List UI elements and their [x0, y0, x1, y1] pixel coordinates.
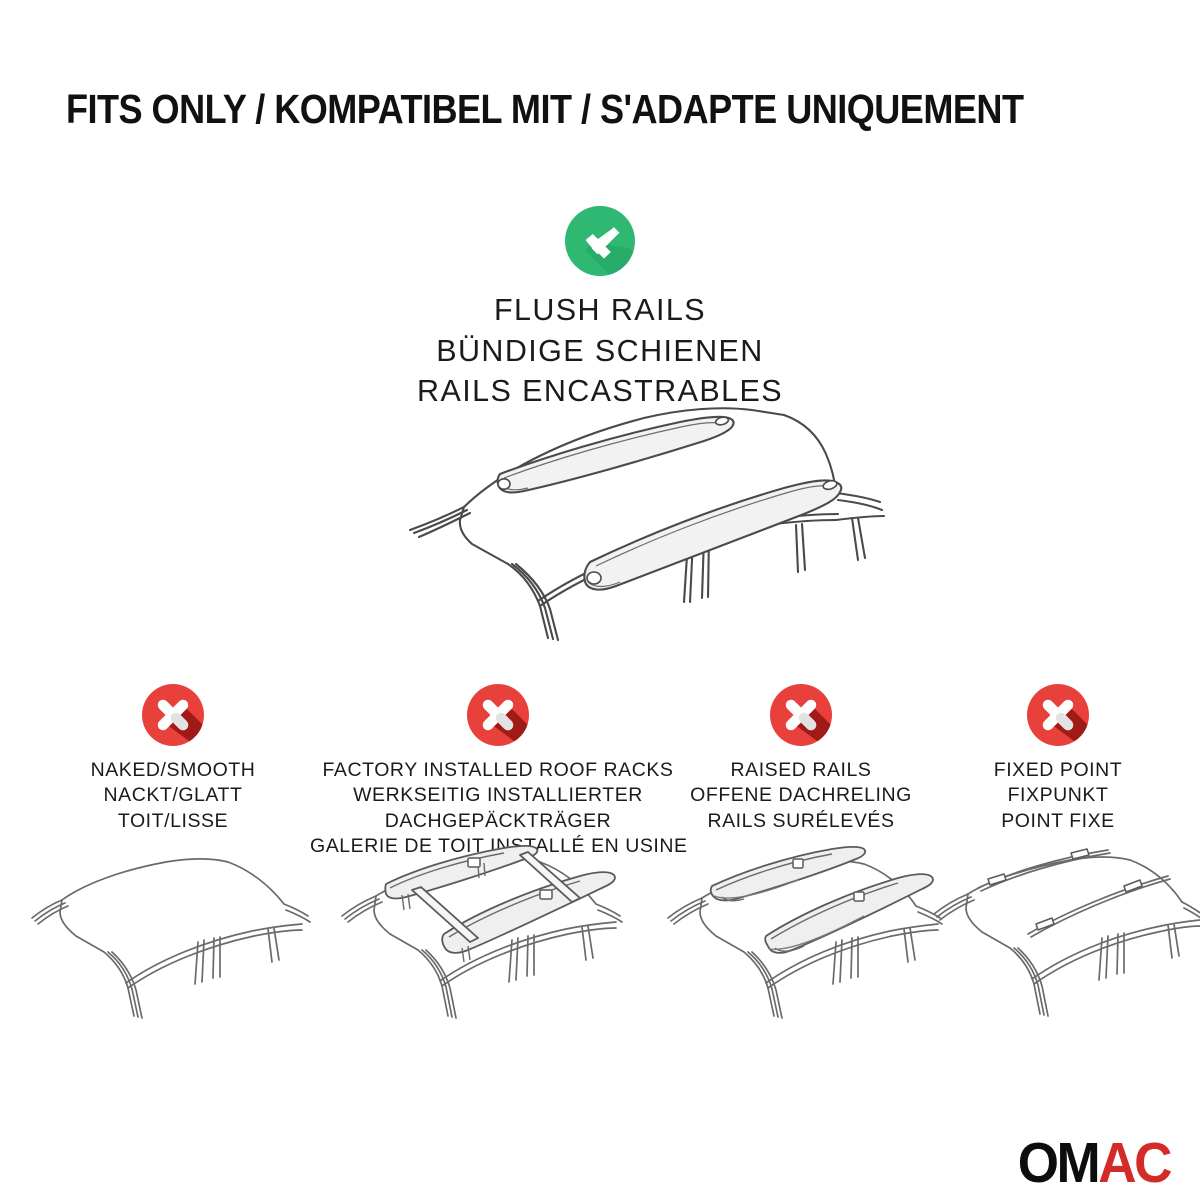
item-line-de: FIXPUNKT [940, 783, 1176, 808]
car-roof-raised-rails-drawing [650, 832, 950, 1037]
item-line-en: FIXED POINT [940, 758, 1176, 783]
omac-logo: OMAC [990, 1134, 1170, 1192]
incompatible-item-raised-rails: RAISED RAILS OFFENE DACHRELING RAILS SUR… [664, 684, 938, 834]
logo-wordmark: OMAC [1003, 1134, 1170, 1192]
logo-om-text: OM [1018, 1131, 1099, 1195]
item-caption: RAISED RAILS OFFENE DACHRELING RAILS SUR… [664, 758, 938, 834]
car-roof-factory-roof-racks-drawing [318, 832, 648, 1047]
red-x-circle-icon [770, 684, 832, 746]
item-line-de-1: WERKSEITIG INSTALLIERTER [310, 783, 686, 808]
car-roof-fixed-point-drawing [916, 832, 1200, 1037]
page-title: FITS ONLY / KOMPATIBEL MIT / S'ADAPTE UN… [66, 88, 1008, 131]
green-check-circle-icon [565, 206, 635, 276]
fitment-infographic: FITS ONLY / KOMPATIBEL MIT / S'ADAPTE UN… [0, 0, 1200, 1200]
red-x-circle-icon [467, 684, 529, 746]
compatible-section: FLUSH RAILS BÜNDIGE SCHIENEN RAILS ENCAS… [0, 206, 1200, 412]
incompatible-item-factory-roof-racks: FACTORY INSTALLED ROOF RACKS WERKSEITIG … [310, 684, 686, 859]
item-line-en: NAKED/SMOOTH [42, 758, 304, 783]
item-caption: NAKED/SMOOTH NACKT/GLATT TOIT/LISSE [42, 758, 304, 834]
red-x-circle-icon [1027, 684, 1089, 746]
item-line-de-2: DACHGEPÄCKTRÄGER [310, 809, 686, 834]
item-caption: FIXED POINT FIXPUNKT POINT FIXE [940, 758, 1176, 834]
compatible-line-de: BÜNDIGE SCHIENEN [0, 331, 1200, 372]
item-line-fr: POINT FIXE [940, 809, 1176, 834]
red-x-circle-icon [142, 684, 204, 746]
car-roof-with-flush-rails-drawing [352, 392, 892, 642]
logo-ac-text: AC [1098, 1131, 1170, 1195]
car-roof-naked-smooth-drawing [22, 832, 322, 1037]
compatible-line-en: FLUSH RAILS [0, 290, 1200, 331]
incompatible-item-naked-smooth: NAKED/SMOOTH NACKT/GLATT TOIT/LISSE [42, 684, 304, 834]
item-line-en: RAISED RAILS [664, 758, 938, 783]
item-line-fr: RAILS SURÉLEVÉS [664, 809, 938, 834]
item-line-de: NACKT/GLATT [42, 783, 304, 808]
item-line-fr: TOIT/LISSE [42, 809, 304, 834]
item-line-de: OFFENE DACHRELING [664, 783, 938, 808]
item-line-en: FACTORY INSTALLED ROOF RACKS [310, 758, 686, 783]
incompatible-item-fixed-point: FIXED POINT FIXPUNKT POINT FIXE [940, 684, 1176, 834]
